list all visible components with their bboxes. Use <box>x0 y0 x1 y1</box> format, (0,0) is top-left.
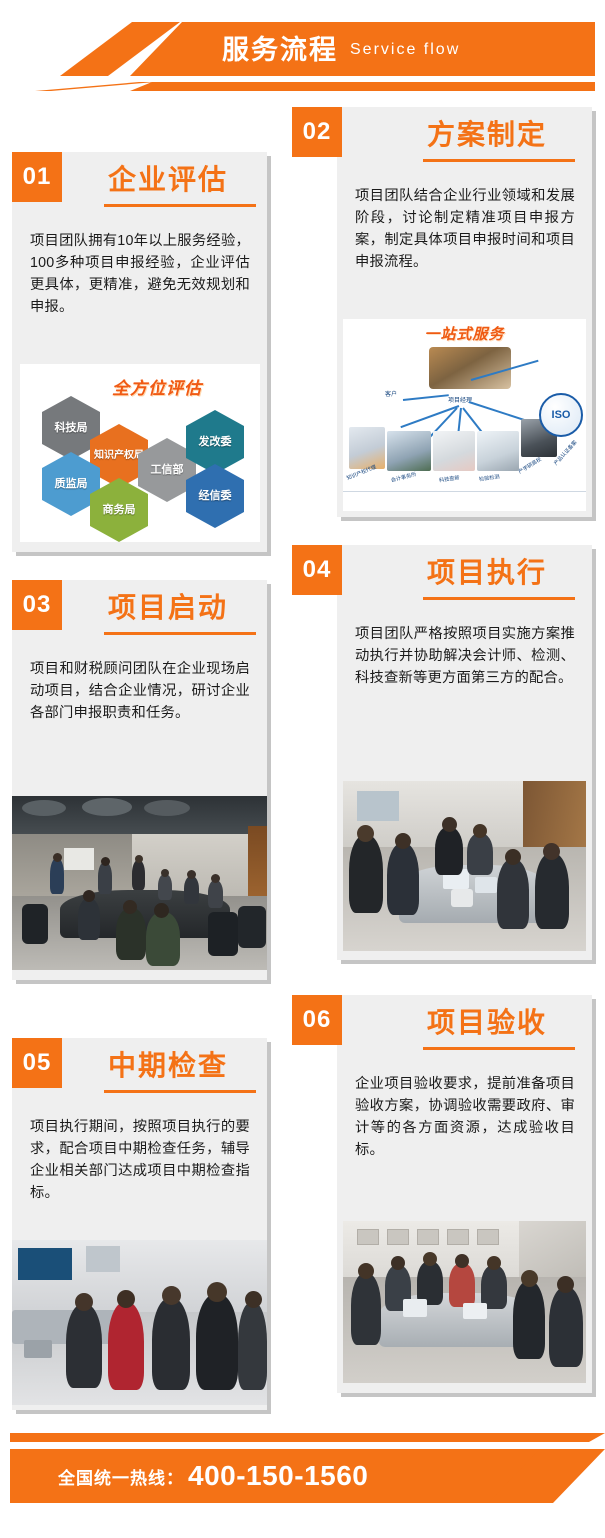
scene-person <box>467 833 493 875</box>
process-card-01: 01 企业评估 项目团队拥有10年以上服务经验，100多种项目申报经验，企业评估… <box>12 152 267 552</box>
hotline-number: 400-150-1560 <box>188 1460 368 1492</box>
scene-wall-frame <box>447 1229 469 1245</box>
card-title: 项目验收 <box>427 1009 547 1037</box>
scene-ceiling-panel <box>82 798 132 816</box>
oss-client-label: 客户 <box>385 389 397 398</box>
card-photo-conference-discussion <box>343 781 586 951</box>
photo-scene <box>343 781 586 951</box>
card-body-text: 项目团队结合企业行业领域和发展阶段，讨论制定精准项目申报方案，制定具体项目申报时… <box>355 185 575 274</box>
scene-person-front <box>349 835 383 913</box>
scene-wall-frame <box>477 1229 499 1245</box>
scene-display-screen <box>18 1248 72 1280</box>
card-body-text: 项目和财税顾问团队在企业现场启动项目，结合企业情况，研讨企业各部门申报职责和任务… <box>30 658 250 724</box>
one-stop-service-diagram: 一站式服务 项目经理 客户 ISO 知识产权代理 会计事务所 科技查新 检验检测… <box>343 319 586 511</box>
iso-seal-icon: ISO <box>539 393 583 437</box>
card-number-badge: 06 <box>292 995 342 1045</box>
process-card-02: 02 方案制定 项目团队结合企业行业领域和发展阶段，讨论制定精准项目申报方案，制… <box>337 107 592 517</box>
oss-node-label-4: 检验检测 <box>479 473 501 483</box>
scene-wall-frame <box>357 1229 379 1245</box>
scene-person-head <box>505 849 521 865</box>
scene-person-head <box>187 870 196 879</box>
photo-scene <box>12 1240 267 1405</box>
scene-person <box>158 874 172 900</box>
scene-person <box>50 858 64 894</box>
card-body-text: 项目团队拥有10年以上服务经验，100多种项目申报经验，企业评估更具体，更精准，… <box>30 230 250 319</box>
card-title-rule <box>423 1047 575 1050</box>
scene-papers <box>463 1303 487 1319</box>
scene-person-front <box>116 908 146 960</box>
card-title: 中期检查 <box>108 1052 228 1080</box>
oss-node-photo-4 <box>477 431 519 471</box>
header-stripe <box>130 82 595 91</box>
oss-baseline <box>343 491 586 492</box>
oss-node-photo-1 <box>349 427 385 469</box>
scene-person-front <box>387 843 419 915</box>
page-header: 服务流程 Service flow <box>0 0 605 100</box>
scene-chair <box>208 912 238 956</box>
process-card-03: 03 项目启动 项目和财税顾问团队在企业现场启动项目，结合企业情况，研讨企业各部… <box>12 580 267 980</box>
scene-counter-edge <box>24 1340 52 1358</box>
scene-person-head <box>101 857 110 866</box>
photo-scene <box>12 796 267 970</box>
scene-person <box>449 1263 475 1307</box>
scene-papers <box>475 877 497 893</box>
card-title: 方案制定 <box>427 121 547 149</box>
scene-wall-frame <box>387 1229 409 1245</box>
scene-whiteboard <box>64 848 94 870</box>
scene-person-front <box>108 1302 144 1390</box>
scene-person-head <box>395 833 411 849</box>
photo-scene <box>343 1221 586 1383</box>
scene-person-head <box>423 1252 437 1266</box>
scene-person-head <box>487 1256 501 1270</box>
scene-person-head <box>53 853 62 862</box>
scene-person-head <box>75 1293 93 1311</box>
scene-person-head <box>442 817 457 832</box>
scene-person-head <box>207 1282 227 1302</box>
card-photo-seminar-room <box>343 1221 586 1383</box>
card-photo-boardroom-kickoff <box>12 796 267 970</box>
oss-node-photo-3 <box>433 431 475 471</box>
footer-stripe <box>10 1433 540 1442</box>
scene-person-head <box>473 824 487 838</box>
card-title: 企业评估 <box>108 166 228 194</box>
scene-ceiling-panel <box>144 800 190 816</box>
header-text-group: 服务流程 Service flow <box>222 30 602 70</box>
process-card-04: 04 项目执行 项目团队严格按照项目实施方案推动执行并协助解决会计师、检测、科技… <box>337 545 592 960</box>
card-photo-office-lobby <box>12 1240 267 1405</box>
scene-wall-light <box>132 834 267 896</box>
scene-person-front <box>351 1273 381 1345</box>
scene-person-front <box>196 1294 238 1390</box>
oss-node-label-5: 产学研高校 <box>517 456 543 476</box>
card-body-text: 项目执行期间，按照项目执行的要求，配合项目中期检查任务，辅导企业相关部门达成项目… <box>30 1116 250 1205</box>
card-title-rule <box>104 204 256 207</box>
scene-chair <box>238 906 266 948</box>
scene-person-head <box>154 903 169 918</box>
scene-person <box>98 862 112 894</box>
scene-person-head <box>521 1270 538 1287</box>
scene-person-head <box>543 843 560 860</box>
scene-person-front <box>146 912 180 966</box>
scene-person-head <box>358 1263 374 1279</box>
card-title-rule <box>104 632 256 635</box>
scene-wall-panel <box>86 1246 120 1272</box>
card-number-badge: 02 <box>292 107 342 157</box>
oss-hub-photo <box>429 347 511 389</box>
card-title: 项目执行 <box>427 559 547 587</box>
oss-node-label-3: 科技查新 <box>439 474 461 484</box>
hotline-label: 全国统一热线： <box>58 1464 184 1489</box>
scene-person-head <box>245 1291 262 1308</box>
scene-person-head <box>391 1256 405 1270</box>
scene-person-front <box>535 853 569 929</box>
hexagon-assessment-diagram: 全方位评估 科技局 知识产权局 质监局 工信部 商务局 发改委 经信委 <box>20 364 260 542</box>
card-title-rule <box>104 1090 256 1093</box>
page-footer: 全国统一热线： 400-150-1560 <box>0 1433 605 1523</box>
process-card-06: 06 项目验收 企业项目验收要求，提前准备项目验收方案，协调验收需要政府、审计等… <box>337 995 592 1393</box>
scene-person-front <box>497 859 529 929</box>
scene-person-head <box>135 855 143 863</box>
card-title-rule <box>423 159 575 162</box>
scene-person-head <box>161 869 169 877</box>
scene-window <box>357 791 399 821</box>
hexagon-diagram-title: 全方位评估 <box>112 374 202 399</box>
scene-chair <box>22 904 48 944</box>
card-body-text: 项目团队严格按照项目实施方案推动执行并协助解决会计师、检测、科技查新等更方面第三… <box>355 623 575 689</box>
oss-node-photo-2 <box>387 431 431 471</box>
scene-person-head <box>162 1286 181 1305</box>
scene-person-head <box>123 900 137 914</box>
scene-person-front <box>549 1287 583 1367</box>
scene-wall-frame <box>417 1229 439 1245</box>
scene-person-head <box>455 1254 469 1268</box>
scene-person <box>132 860 145 890</box>
hotline-group: 全国统一热线： 400-150-1560 <box>58 1449 368 1503</box>
scene-person <box>435 827 463 875</box>
card-number-badge: 04 <box>292 545 342 595</box>
scene-person-front <box>66 1304 102 1388</box>
card-title-rule <box>423 597 575 600</box>
scene-person <box>184 876 199 904</box>
process-card-05: 05 中期检查 项目执行期间，按照项目执行的要求，配合项目中期检查任务，辅导企业… <box>12 1038 267 1410</box>
scene-person-front <box>513 1281 545 1359</box>
page-subtitle: Service flow <box>350 42 460 58</box>
card-title: 项目启动 <box>108 594 228 622</box>
card-number-badge: 01 <box>12 152 62 202</box>
scene-person <box>208 880 223 908</box>
scene-ceiling-panel <box>22 800 66 816</box>
scene-bag <box>451 889 473 907</box>
scene-person-front <box>78 898 100 940</box>
scene-person-front <box>152 1298 190 1390</box>
card-number-badge: 05 <box>12 1038 62 1088</box>
infographic-page: 服务流程 Service flow 01 企业评估 项目团队拥有10年以上服务经… <box>0 0 605 1538</box>
scene-person-head <box>83 890 95 902</box>
scene-person-front <box>238 1302 267 1390</box>
page-title: 服务流程 <box>222 37 338 64</box>
scene-person-head <box>557 1276 574 1293</box>
oss-node-label-2: 会计事务所 <box>390 471 417 484</box>
scene-person-head <box>117 1290 135 1308</box>
scene-person-head <box>357 825 374 842</box>
scene-laptop <box>403 1299 427 1317</box>
scene-person-head <box>211 874 220 883</box>
card-number-badge: 03 <box>12 580 62 630</box>
card-body-text: 企业项目验收要求，提前准备项目验收方案，协调验收需要政府、审计等的各方面资源，达… <box>355 1073 575 1162</box>
